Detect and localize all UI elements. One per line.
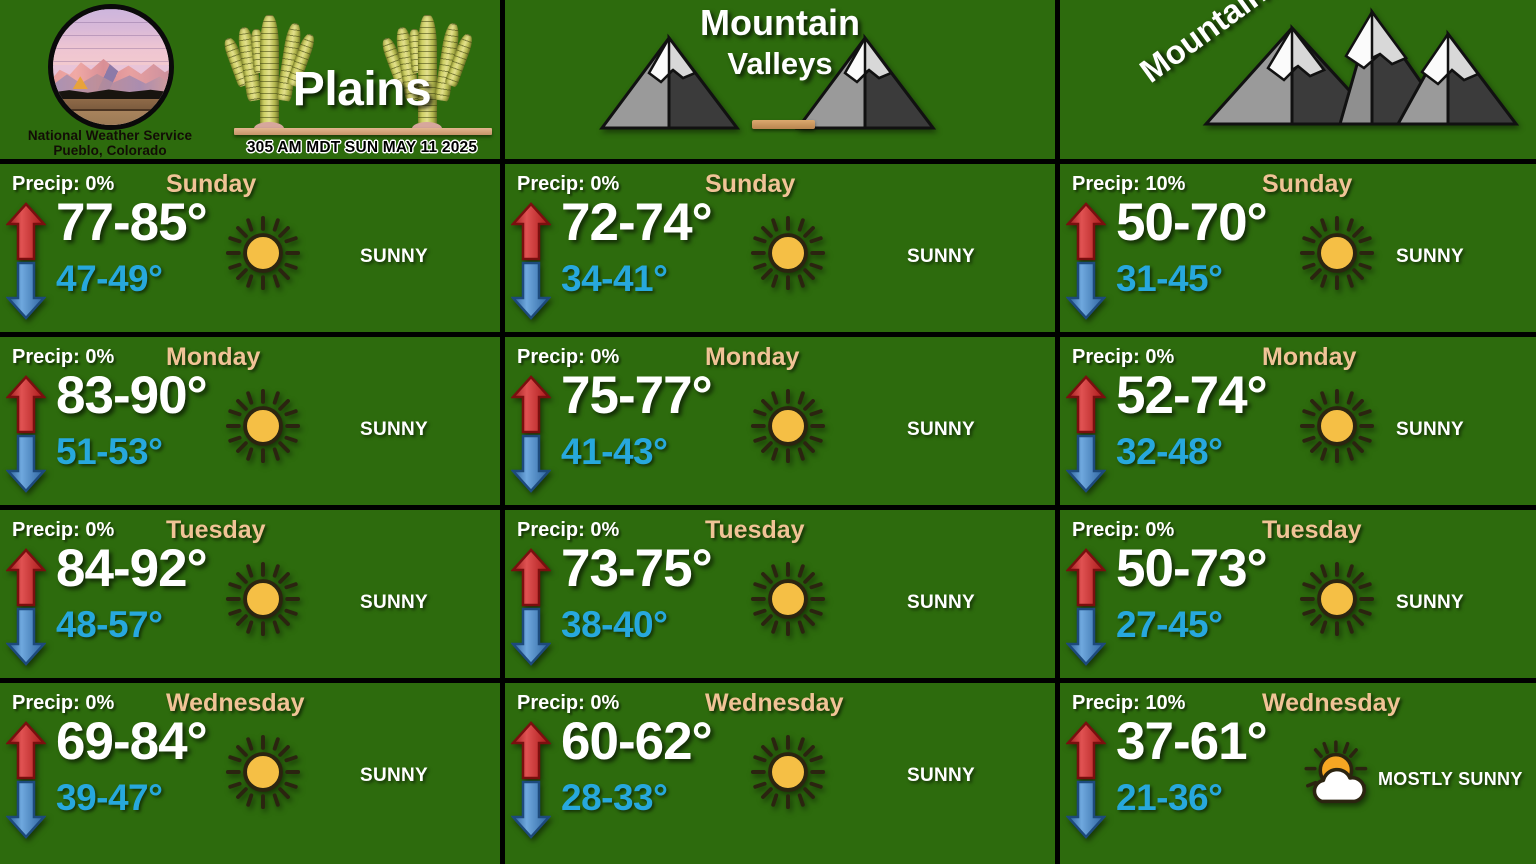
day-label: Tuesday [705, 516, 805, 545]
arrow-up-icon [1066, 548, 1106, 608]
high-temp: 77-85° [56, 192, 207, 253]
nws-logo-icon [48, 4, 174, 130]
arrow-down-icon [1066, 260, 1106, 320]
low-temp: 51-53° [56, 431, 162, 473]
plains-title: Plains [228, 62, 496, 117]
nws-line2: Pueblo, Colorado [0, 143, 220, 158]
plains-title-block: Plains 305 AM MDT SUN MAY 11 2025 [228, 0, 496, 160]
low-temp: 31-45° [1116, 258, 1222, 300]
low-temp: 47-49° [56, 258, 162, 300]
high-temp: 69-84° [56, 711, 207, 772]
low-temp: 21-36° [1116, 777, 1222, 819]
column-plains: National Weather Service Pueblo, Colorad… [0, 0, 500, 864]
nws-office-caption: National Weather Service Pueblo, Colorad… [0, 128, 220, 158]
sun-cloud-icon [1300, 739, 1378, 817]
arrow-down-icon [1066, 779, 1106, 839]
sun-icon [749, 214, 827, 292]
arrow-down-icon [511, 260, 551, 320]
valleys-title-line1: Mountain [505, 2, 1055, 44]
sun-icon [749, 733, 827, 811]
day-label: Monday [1262, 343, 1356, 372]
arrow-down-icon [6, 433, 46, 493]
forecast-row[interactable]: Precip: 10% Wednesday 37-61° 21-36° [1060, 683, 1536, 864]
low-temp: 41-43° [561, 431, 667, 473]
arrow-up-icon [1066, 375, 1106, 435]
sun-icon [224, 387, 302, 465]
arrow-up-icon [6, 202, 46, 262]
three-peaks-icon [1200, 4, 1520, 132]
arrow-up-icon [6, 548, 46, 608]
condition-text: SUNNY [1396, 592, 1464, 614]
arrow-down-icon [511, 433, 551, 493]
forecast-row[interactable]: Precip: 0% Monday 75-77° 41-43° SUNNY [505, 337, 1055, 505]
arrow-down-icon [1066, 606, 1106, 666]
forecast-row[interactable]: Precip: 0% Monday 52-74° 32-48° SUNNY [1060, 337, 1536, 505]
condition-text: SUNNY [907, 419, 975, 441]
low-temp: 38-40° [561, 604, 667, 646]
day-label: Sunday [1262, 170, 1352, 199]
sun-icon [749, 560, 827, 638]
high-temp: 50-73° [1116, 538, 1267, 599]
forecast-row[interactable]: Precip: 0% Wednesday 69-84° 39-47° SUNNY [0, 683, 500, 864]
arrow-up-icon [6, 375, 46, 435]
arrow-up-icon [6, 721, 46, 781]
valleys-title-line2: Valleys [505, 46, 1055, 82]
forecast-row[interactable]: Precip: 0% Tuesday 73-75° 38-40° SUNNY [505, 510, 1055, 678]
low-temp: 34-41° [561, 258, 667, 300]
high-temp: 72-74° [561, 192, 712, 253]
high-temp: 75-77° [561, 365, 712, 426]
arrow-up-icon [511, 375, 551, 435]
condition-text: SUNNY [907, 246, 975, 268]
high-temp: 60-62° [561, 711, 712, 772]
condition-text: MOSTLY SUNNY [1378, 769, 1523, 790]
column-divider [1055, 0, 1060, 864]
header-mountains: Mountains [1060, 0, 1536, 160]
arrow-down-icon [6, 260, 46, 320]
day-label: Wednesday [705, 689, 843, 718]
condition-text: SUNNY [907, 592, 975, 614]
arrow-down-icon [6, 606, 46, 666]
arrow-up-icon [1066, 721, 1106, 781]
arrow-up-icon [511, 548, 551, 608]
high-temp: 84-92° [56, 538, 207, 599]
arrow-up-icon [511, 721, 551, 781]
issuance-timestamp: 305 AM MDT SUN MAY 11 2025 [228, 139, 496, 157]
condition-text: SUNNY [1396, 419, 1464, 441]
low-temp: 48-57° [56, 604, 162, 646]
day-label: Wednesday [1262, 689, 1400, 718]
condition-text: SUNNY [360, 419, 428, 441]
arrow-down-icon [511, 779, 551, 839]
high-temp: 37-61° [1116, 711, 1267, 772]
sun-icon [1298, 560, 1376, 638]
low-temp: 39-47° [56, 777, 162, 819]
header-mountain-valleys: Mountain Valleys [505, 0, 1055, 160]
sun-icon [1298, 387, 1376, 465]
forecast-row[interactable]: Precip: 0% Tuesday 50-73° 27-45° SUNNY [1060, 510, 1536, 678]
condition-text: SUNNY [360, 592, 428, 614]
high-temp: 73-75° [561, 538, 712, 599]
day-label: Tuesday [1262, 516, 1362, 545]
forecast-row[interactable]: Precip: 0% Monday 83-90° 51-53° SUNNY [0, 337, 500, 505]
forecast-row[interactable]: Precip: 0% Wednesday 60-62° 28-33° SUNNY [505, 683, 1055, 864]
arrow-down-icon [511, 606, 551, 666]
sun-icon [224, 733, 302, 811]
arrow-down-icon [6, 779, 46, 839]
valley-floor [752, 120, 815, 129]
sun-icon [1298, 214, 1376, 292]
day-label: Monday [705, 343, 799, 372]
forecast-board: National Weather Service Pueblo, Colorad… [0, 0, 1536, 864]
row-divider [0, 159, 1536, 164]
nws-line1: National Weather Service [0, 128, 220, 143]
sun-icon [224, 560, 302, 638]
column-mountain-valleys: Mountain Valleys Precip: 0% Sunday 72-74… [505, 0, 1055, 864]
high-temp: 83-90° [56, 365, 207, 426]
high-temp: 50-70° [1116, 192, 1267, 253]
sun-icon [224, 214, 302, 292]
low-temp: 28-33° [561, 777, 667, 819]
condition-text: SUNNY [360, 246, 428, 268]
arrow-up-icon [1066, 202, 1106, 262]
low-temp: 27-45° [1116, 604, 1222, 646]
condition-text: SUNNY [360, 765, 428, 787]
forecast-row[interactable]: Precip: 0% Sunday 77-85° 47-49° SUNNY [0, 164, 500, 332]
row-divider [0, 678, 1536, 683]
low-temp: 32-48° [1116, 431, 1222, 473]
forecast-row[interactable]: Precip: 0% Sunday 72-74° 34-41° SUNNY [505, 164, 1055, 332]
column-divider [500, 0, 505, 864]
header-plains: National Weather Service Pueblo, Colorad… [0, 0, 500, 160]
arrow-up-icon [511, 202, 551, 262]
forecast-row[interactable]: Precip: 0% Tuesday 84-92° 48-57° SUNNY [0, 510, 500, 678]
day-label: Sunday [705, 170, 795, 199]
high-temp: 52-74° [1116, 365, 1267, 426]
column-mountains: Mountains Precip: 10% Sunday 50-70° 31-4… [1060, 0, 1536, 864]
row-divider [0, 505, 1536, 510]
row-divider [0, 332, 1536, 337]
ground-bar [234, 128, 492, 135]
condition-text: SUNNY [1396, 246, 1464, 268]
sun-icon [749, 387, 827, 465]
condition-text: SUNNY [907, 765, 975, 787]
forecast-row[interactable]: Precip: 10% Sunday 50-70° 31-45° SUNNY [1060, 164, 1536, 332]
arrow-down-icon [1066, 433, 1106, 493]
